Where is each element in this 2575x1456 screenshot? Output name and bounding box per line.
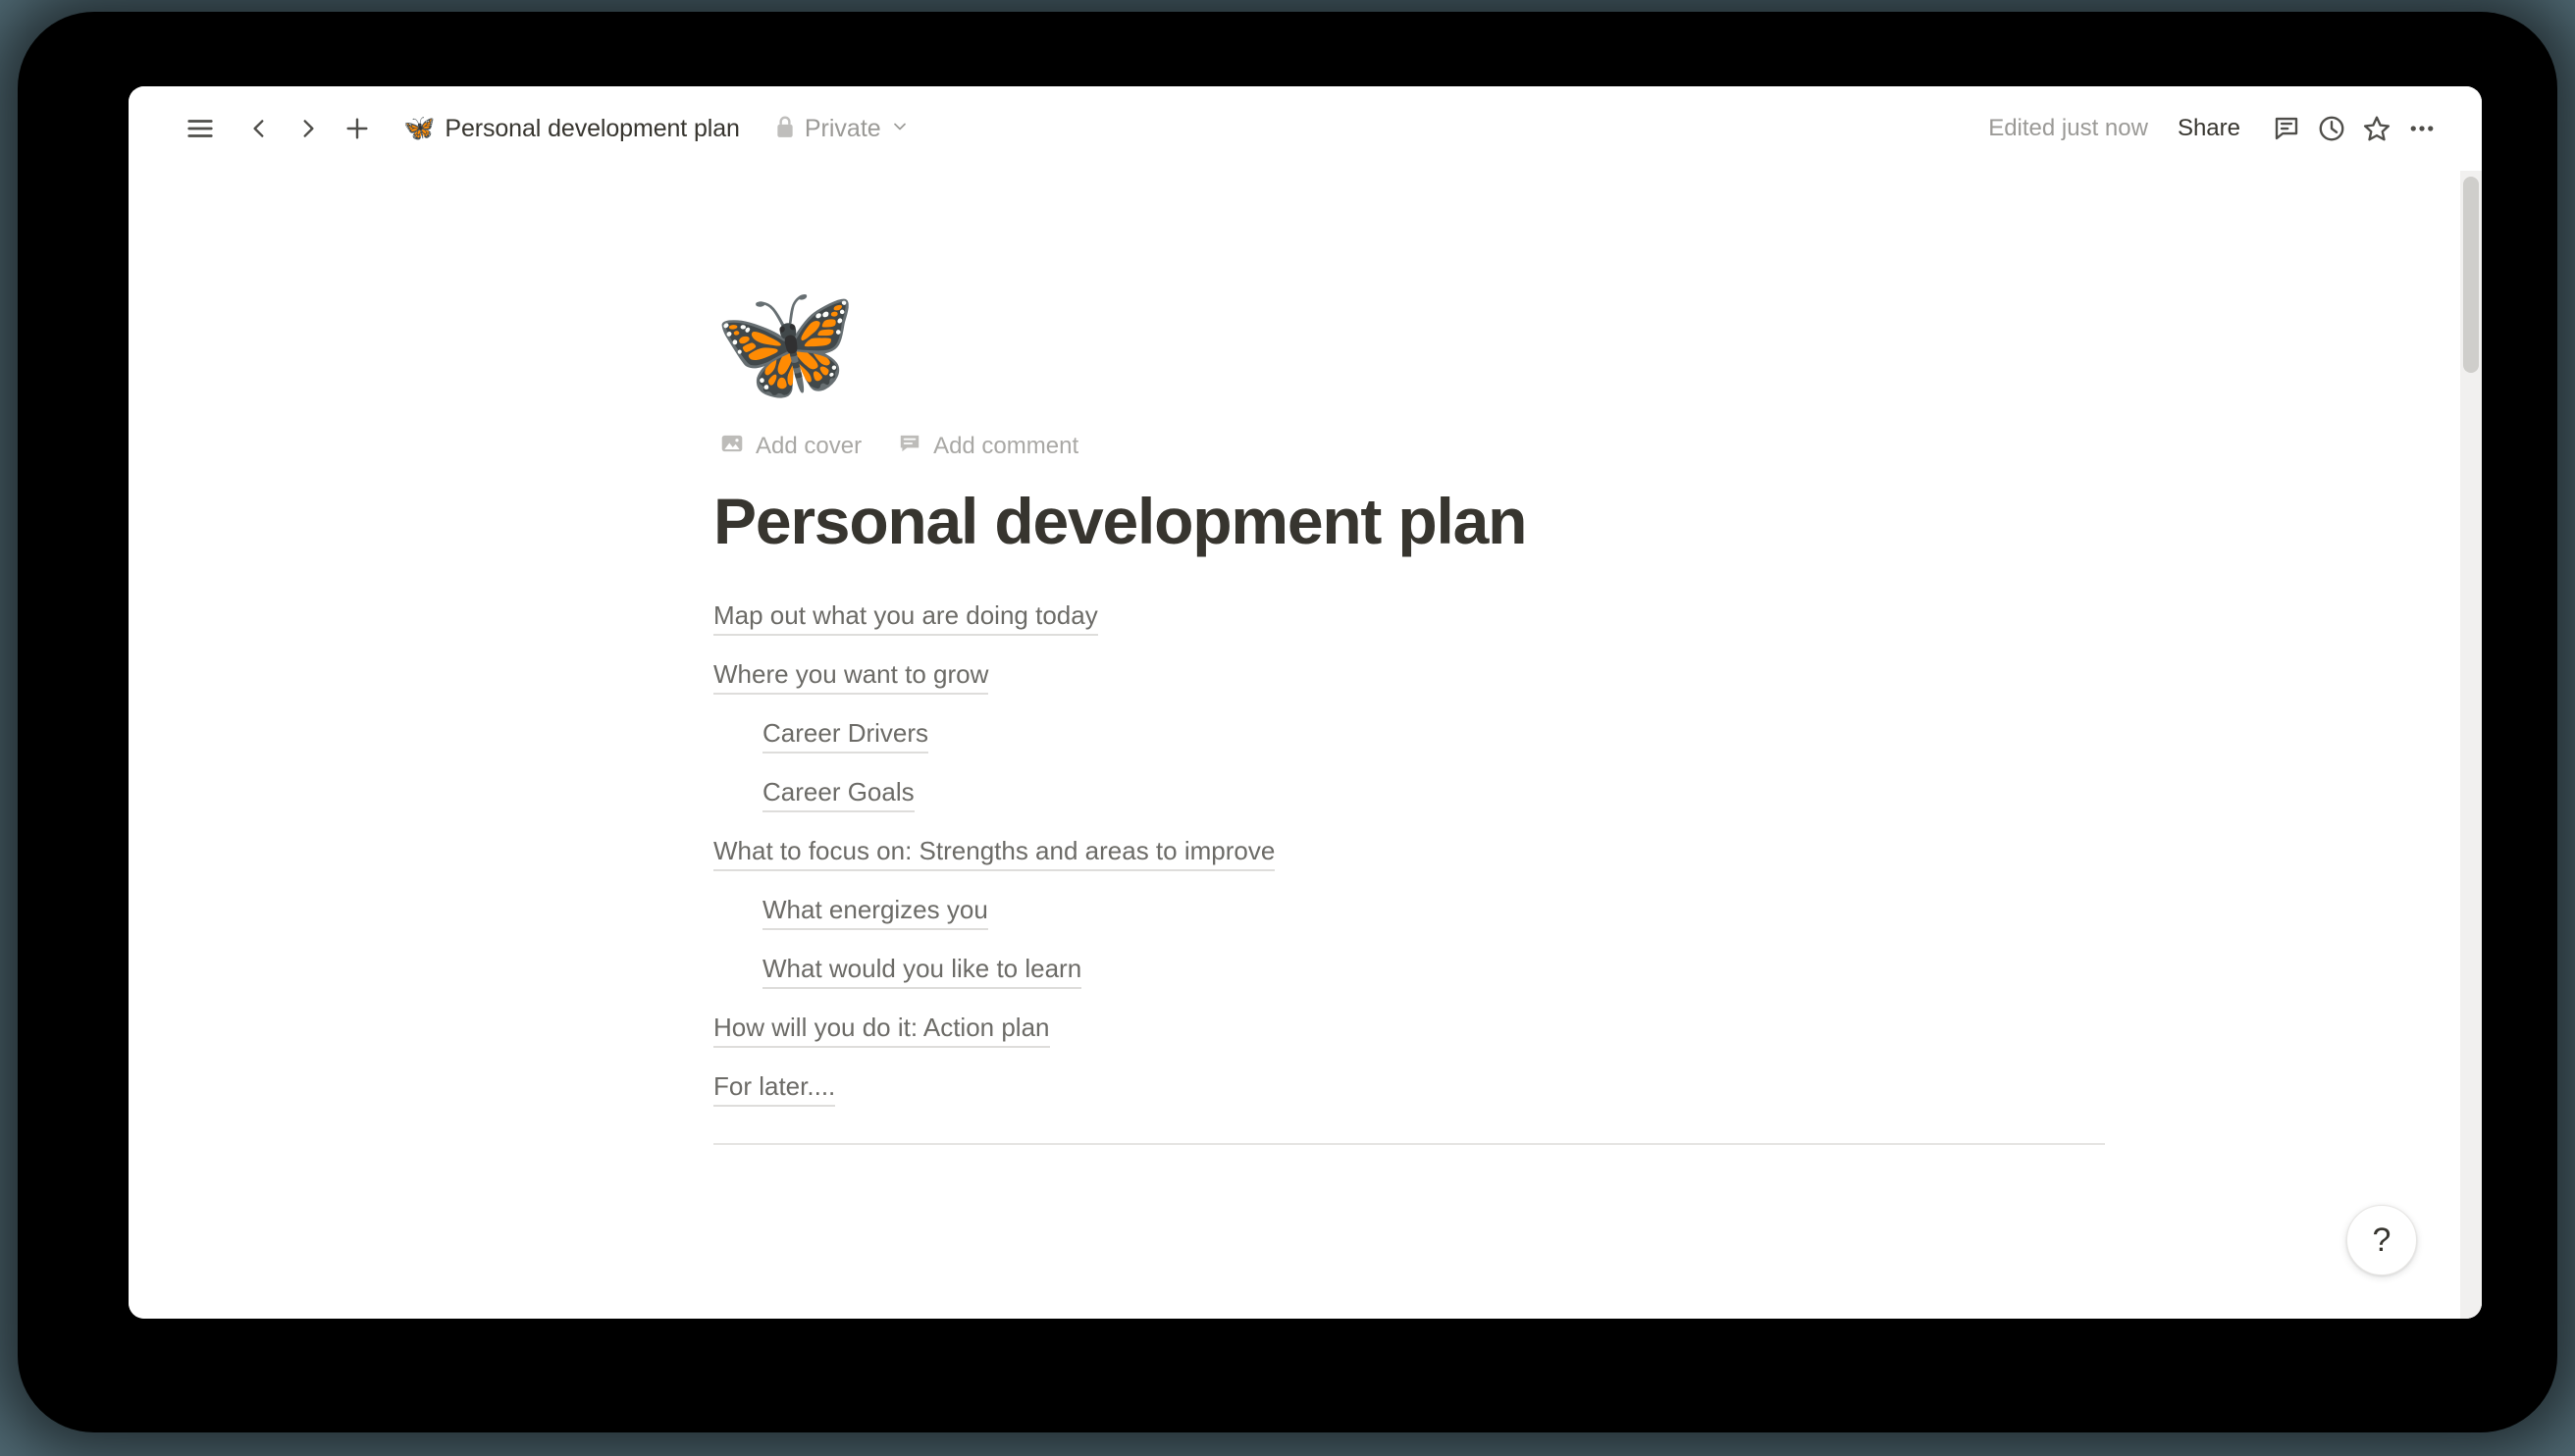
top-bar-left-group: 🦋 Personal development plan Private [178, 106, 1974, 151]
breadcrumb[interactable]: 🦋 Personal development plan [394, 109, 750, 149]
toc-row: What energizes you [713, 883, 2107, 942]
toc-row: Career Goals [713, 765, 2107, 824]
toc-link[interactable]: What to focus on: Strengths and areas to… [713, 836, 1275, 871]
plus-icon[interactable] [335, 106, 380, 151]
page-divider [713, 1143, 2105, 1145]
toc-link[interactable]: Career Drivers [762, 718, 928, 754]
lock-icon [774, 115, 796, 143]
help-button[interactable]: ? [2346, 1205, 2417, 1275]
star-icon[interactable] [2354, 106, 2399, 151]
page-emoji-icon: 🦋 [403, 116, 435, 141]
comment-bubble-icon[interactable] [2264, 106, 2309, 151]
toc-row: For later.... [713, 1060, 2107, 1118]
hamburger-menu-icon[interactable] [178, 106, 223, 151]
clock-history-icon[interactable] [2309, 106, 2354, 151]
image-icon [719, 431, 745, 463]
more-horizontal-icon[interactable] [2399, 106, 2444, 151]
toc-link[interactable]: For later.... [713, 1071, 835, 1107]
toc-link[interactable]: Career Goals [762, 777, 915, 812]
add-comment-button[interactable]: Add comment [893, 429, 1082, 465]
chevron-left-icon[interactable] [236, 106, 282, 151]
vertical-scrollbar-track[interactable] [2460, 171, 2482, 1319]
chevron-down-icon [890, 117, 910, 141]
toc-link[interactable]: Map out what you are doing today [713, 600, 1098, 636]
toc-link[interactable]: How will you do it: Action plan [713, 1013, 1050, 1048]
toc-row: What to focus on: Strengths and areas to… [713, 824, 2107, 883]
top-bar: 🦋 Personal development plan Private [129, 86, 2482, 171]
toc-link[interactable]: What energizes you [762, 895, 988, 930]
breadcrumb-title: Personal development plan [445, 115, 739, 143]
toc-link[interactable]: What would you like to learn [762, 954, 1081, 989]
share-button[interactable]: Share [2162, 107, 2256, 150]
privacy-selector[interactable]: Private [763, 109, 920, 149]
toc-row: How will you do it: Action plan [713, 1001, 2107, 1060]
comment-bubble-filled-icon [897, 431, 922, 463]
table-of-contents: Map out what you are doing todayWhere yo… [713, 589, 2107, 1118]
page-title[interactable]: Personal development plan [713, 485, 2107, 559]
chevron-right-icon[interactable] [286, 106, 331, 151]
add-cover-button[interactable]: Add cover [715, 429, 866, 465]
toc-row: Map out what you are doing today [713, 589, 2107, 648]
edited-status[interactable]: Edited just now [1974, 107, 2162, 150]
toc-row: Where you want to grow [713, 648, 2107, 706]
device-frame: 🦋 Personal development plan Private [18, 12, 2557, 1432]
app-window: 🦋 Personal development plan Private [129, 86, 2482, 1319]
privacy-label: Private [805, 115, 881, 143]
toc-row: Career Drivers [713, 706, 2107, 765]
page-content: 🦋 Add cover [713, 171, 2107, 1145]
page-icon-emoji[interactable]: 🦋 [713, 285, 858, 400]
top-bar-right-group: Edited just now Share [1974, 106, 2444, 151]
page-scroll-area: 🦋 Add cover [129, 171, 2482, 1319]
toc-link[interactable]: Where you want to grow [713, 659, 988, 695]
add-comment-label: Add comment [933, 433, 1078, 460]
page-actions-row: Add cover Add comment [715, 430, 2107, 463]
toc-row: What would you like to learn [713, 942, 2107, 1001]
vertical-scrollbar-thumb[interactable] [2463, 177, 2479, 373]
add-cover-label: Add cover [756, 433, 862, 460]
